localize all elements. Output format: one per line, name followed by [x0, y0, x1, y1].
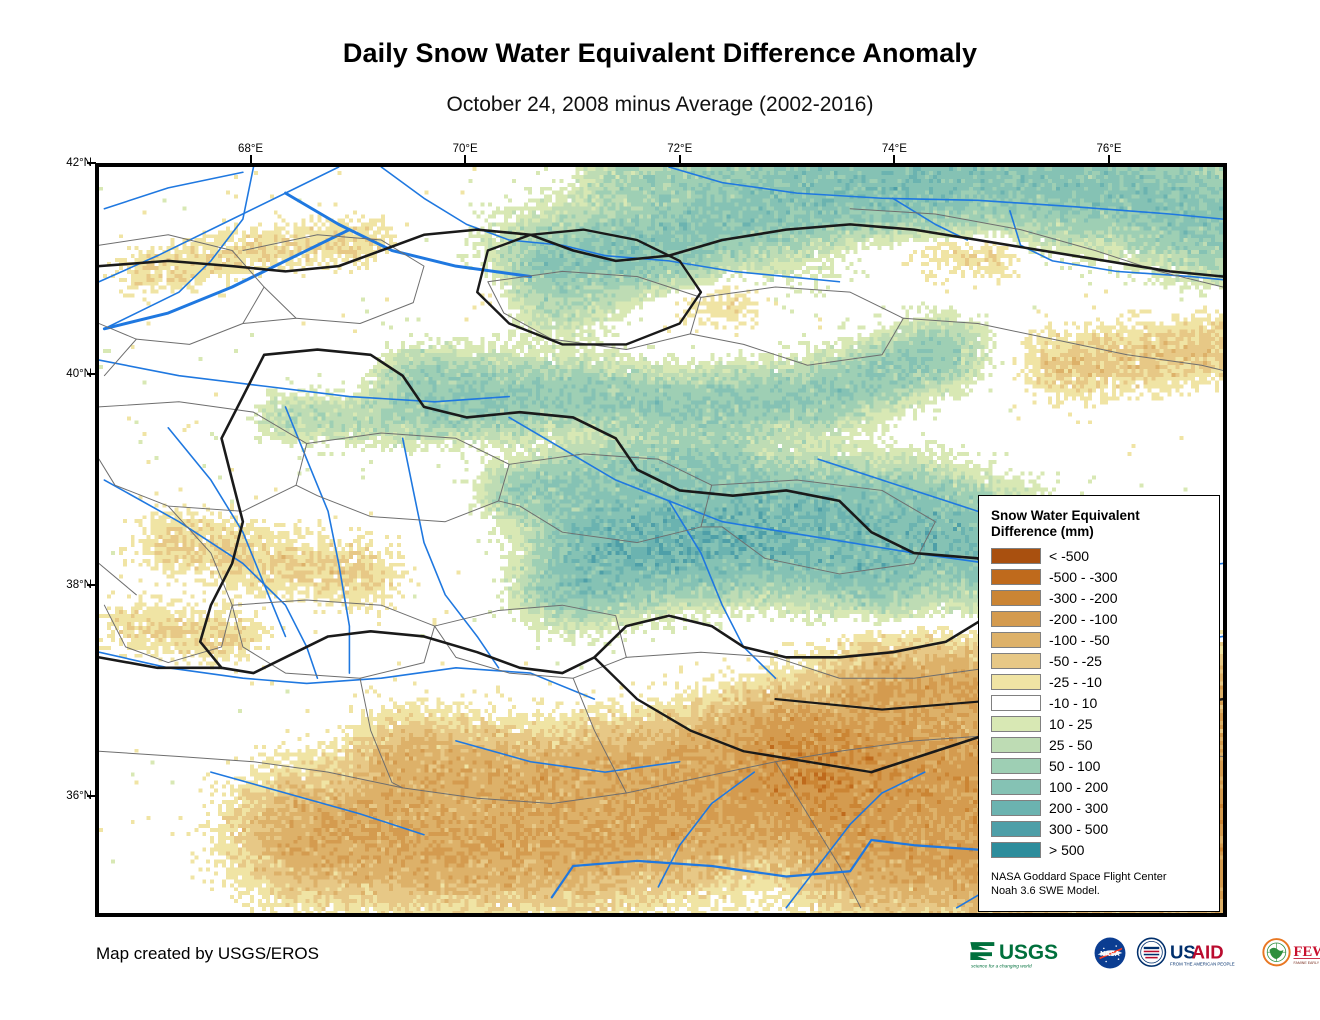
usaid-logo: US AID FROM THE AMERICAN PEOPLE: [1136, 936, 1252, 970]
legend-row: -100 - -50: [991, 630, 1209, 651]
legend-label: 25 - 50: [1049, 737, 1093, 753]
legend-swatch: [991, 632, 1041, 648]
map-legend: Snow Water Equivalent Difference (mm) < …: [978, 495, 1220, 912]
legend-label: -300 - -200: [1049, 590, 1117, 606]
legend-row: -50 - -25: [991, 651, 1209, 672]
page-subtitle: October 24, 2008 minus Average (2002-201…: [0, 93, 1320, 117]
legend-label: -100 - -50: [1049, 632, 1110, 648]
legend-label: 200 - 300: [1049, 800, 1108, 816]
legend-swatch: [991, 590, 1041, 606]
legend-swatch: [991, 548, 1041, 564]
legend-label: > 500: [1049, 842, 1084, 858]
legend-label: -200 - -100: [1049, 611, 1117, 627]
legend-label: 100 - 200: [1049, 779, 1108, 795]
legend-title-line2: Difference (mm): [991, 524, 1209, 540]
legend-row: 10 - 25: [991, 714, 1209, 735]
legend-swatch: [991, 716, 1041, 732]
lon-tick-label-1: 70°E: [453, 143, 478, 155]
legend-swatch: [991, 674, 1041, 690]
legend-swatch: [991, 800, 1041, 816]
fewsnet-logo: FEWS NET FAMINE EARLY WARNING SYSTEMS NE…: [1261, 936, 1320, 970]
legend-row: 25 - 50: [991, 735, 1209, 756]
legend-label: -25 - -10: [1049, 674, 1102, 690]
legend-title-line1: Snow Water Equivalent: [991, 508, 1209, 524]
legend-row: 300 - 500: [991, 819, 1209, 840]
legend-row: -200 - -100: [991, 609, 1209, 630]
legend-row: < -500: [991, 546, 1209, 567]
legend-swatch: [991, 611, 1041, 627]
legend-label: 300 - 500: [1049, 821, 1108, 837]
legend-row: -25 - -10: [991, 672, 1209, 693]
legend-class-list: < -500-500 - -300-300 - -200-200 - -100-…: [991, 546, 1209, 861]
legend-swatch: [991, 737, 1041, 753]
legend-swatch: [991, 695, 1041, 711]
legend-row: 50 - 100: [991, 756, 1209, 777]
legend-swatch: [991, 569, 1041, 585]
nasa-logo: NASA: [1093, 936, 1127, 970]
logo-strip: USGS science for a changing world NASA U…: [968, 934, 1320, 972]
legend-swatch: [991, 779, 1041, 795]
usgs-logo: USGS science for a changing world: [968, 936, 1084, 970]
legend-row: -500 - -300: [991, 567, 1209, 588]
legend-label: -10 - 10: [1049, 695, 1097, 711]
legend-swatch: [991, 821, 1041, 837]
legend-label: -50 - -25: [1049, 653, 1102, 669]
lon-tick-label-3: 74°E: [882, 143, 907, 155]
legend-row: 200 - 300: [991, 798, 1209, 819]
lon-tick-label-0: 68°E: [238, 143, 263, 155]
legend-credit-line1: NASA Goddard Space Flight Center: [991, 870, 1209, 884]
legend-swatch: [991, 653, 1041, 669]
legend-row: -10 - 10: [991, 693, 1209, 714]
legend-swatch: [991, 758, 1041, 774]
legend-row: -300 - -200: [991, 588, 1209, 609]
legend-swatch: [991, 842, 1041, 858]
legend-title: Snow Water Equivalent Difference (mm): [991, 508, 1209, 541]
lon-tick-label-4: 76°E: [1096, 143, 1121, 155]
legend-label: -500 - -300: [1049, 569, 1117, 585]
legend-label: 50 - 100: [1049, 758, 1100, 774]
legend-credit: NASA Goddard Space Flight Center Noah 3.…: [991, 870, 1209, 899]
map-created-by-text: Map created by USGS/EROS: [96, 944, 319, 964]
legend-credit-line2: Noah 3.6 SWE Model.: [991, 884, 1209, 898]
page-title: Daily Snow Water Equivalent Difference A…: [0, 38, 1320, 69]
legend-row: > 500: [991, 840, 1209, 861]
legend-row: 100 - 200: [991, 777, 1209, 798]
legend-label: 10 - 25: [1049, 716, 1093, 732]
lon-tick-label-2: 72°E: [667, 143, 692, 155]
legend-label: < -500: [1049, 548, 1089, 564]
